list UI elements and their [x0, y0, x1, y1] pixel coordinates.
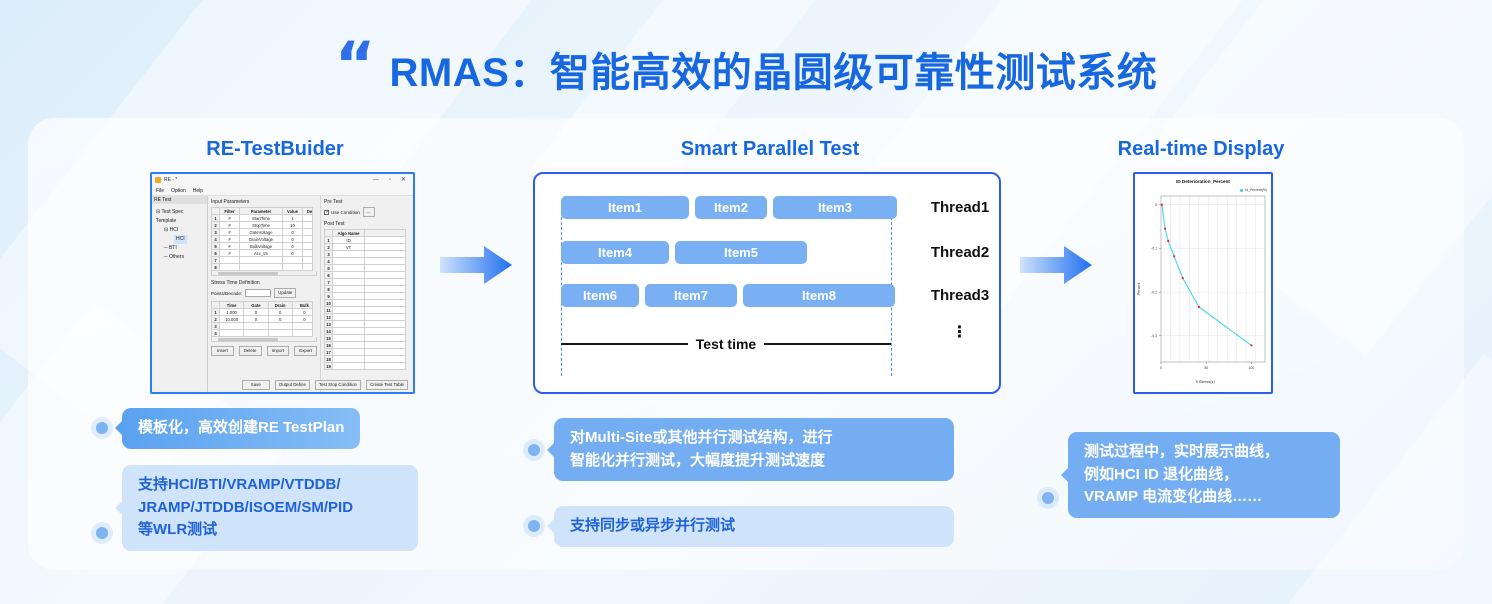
right-arrow-icon — [440, 246, 512, 284]
tree-node-bti[interactable]: ─ BTI — [154, 244, 205, 253]
table-row: 11 — [325, 307, 410, 314]
thread-label-1: Thread1 — [915, 199, 1005, 216]
close-icon[interactable]: ✕ — [401, 177, 406, 183]
post-test-table[interactable]: Algo Name 1ID 2VT 3 4 5 6 — [324, 229, 410, 370]
tree-node-test-spec-template[interactable]: ⊟ Test Spec Template — [154, 208, 205, 226]
test-time-label: Test time — [696, 336, 756, 352]
maximize-icon[interactable]: ▫ — [389, 177, 391, 183]
callout-left-2: 支持HCI/BTI/VRAMP/VTDDB/ JRAMP/JTDDB/ISOEM… — [96, 465, 418, 551]
table-header-row: Filter Parameter Value De — [212, 208, 317, 215]
test-spec-tree-panel: RE Test ⊟ Test Spec Template ⊟ HCI HCI ─… — [152, 196, 208, 392]
table-row: 16 — [325, 342, 410, 349]
table-row: 1#StartTime1 — [212, 215, 317, 222]
table-row: 8 — [325, 286, 410, 293]
item-block[interactable]: Item1 — [561, 196, 689, 219]
item-block[interactable]: Item3 — [773, 196, 897, 219]
smart-parallel-test-panel: Item1 Item2 Item3 Thread1 Item4 Item5 Th… — [533, 172, 1001, 394]
section-title-re-testbuilder: RE-TestBuider — [154, 138, 396, 161]
callout-right-1: 测试过程中，实时展示曲线， 例如HCI ID 退化曲线， VRAMP 电流变化曲… — [1042, 432, 1340, 518]
table-row: 10 — [325, 300, 410, 307]
table-header-row: Time Gate Drain Bulk — [212, 302, 317, 309]
table-row: 5#BulkVoltage0 — [212, 243, 317, 250]
callout-middle-1: 对Multi-Site或其他并行测试结构，进行 智能化并行测试，大幅度提升测试速… — [528, 418, 954, 481]
tree-panel-header: RE Test — [152, 196, 207, 204]
table-row: 210.000000 — [212, 316, 317, 323]
points-per-decade-label: Points/Decade: — [211, 291, 242, 296]
page-header: “ RMAS：智能高效的晶圆级可靠性测试系统 — [0, 38, 1492, 100]
table-row: 11.000000 — [212, 309, 317, 316]
table-row: 1ID — [325, 237, 410, 244]
page-title: RMAS：智能高效的晶圆级可靠性测试系统 — [389, 40, 1157, 98]
create-test-table-button[interactable]: Create Test Table — [366, 380, 408, 390]
table-row: 13 — [325, 321, 410, 328]
item-block[interactable]: Item7 — [645, 284, 737, 307]
callout-text: 测试过程中，实时展示曲线， 例如HCI ID 退化曲线， VRAMP 电流变化曲… — [1068, 432, 1340, 518]
bullet-dot-icon — [96, 422, 108, 434]
table-row: 2VT — [325, 244, 410, 251]
use-condition-checkbox[interactable]: Use Condition — [324, 210, 360, 215]
real-time-chart-window: ID Deterioration_Percent Id_Percent(%) 0… — [1133, 172, 1273, 394]
menu-bar: File Option Help — [152, 186, 413, 196]
output-define-button[interactable]: Output Define — [275, 380, 310, 390]
table-row: 3 — [212, 323, 317, 330]
test-time-axis: Test time — [561, 336, 891, 352]
vertical-scrollbar[interactable] — [405, 229, 410, 370]
thread-row-2: Item4 Item5 — [561, 241, 807, 264]
chart-y-axis-label: Percent — [1137, 283, 1141, 295]
thread-row-3: Item6 Item7 Item8 — [561, 284, 895, 307]
svg-text:0: 0 — [1160, 366, 1162, 370]
table-row: 6 — [325, 272, 410, 279]
quote-mark-icon: “ — [335, 45, 372, 85]
callout-text: 支持HCI/BTI/VRAMP/VTDDB/ JRAMP/JTDDB/ISOEM… — [122, 465, 418, 551]
item-block[interactable]: Item6 — [561, 284, 639, 307]
app-icon — [155, 177, 161, 183]
save-button[interactable]: Save — [242, 380, 270, 390]
thread-row-1: Item1 Item2 Item3 — [561, 196, 897, 219]
callout-text: 支持同步或异步并行测试 — [554, 506, 954, 547]
vertical-scrollbar[interactable] — [312, 301, 317, 337]
table-row: 9 — [325, 293, 410, 300]
bullet-dot-icon — [1042, 492, 1054, 504]
svg-text:0: 0 — [1155, 203, 1157, 207]
table-row: 18 — [325, 356, 410, 363]
window-titlebar: RE - * — ▫ ✕ — [152, 174, 413, 186]
bullet-dot-icon — [528, 444, 540, 456]
horizontal-scrollbar[interactable] — [211, 271, 317, 276]
table-row: 3 — [325, 251, 410, 258]
thread-label-2: Thread2 — [915, 244, 1005, 261]
bullet-dot-icon — [96, 527, 108, 539]
svg-text:100: 100 — [1249, 366, 1255, 370]
tree-node-others[interactable]: ─ Others — [154, 253, 205, 262]
tree-node-hci-child[interactable]: HCI — [154, 235, 205, 244]
table-row: 5 — [325, 265, 410, 272]
post-test-label: Post Test — [324, 221, 410, 227]
chart-x-axis-label: TriStress(s) — [1135, 380, 1273, 384]
callout-text: 对Multi-Site或其他并行测试结构，进行 智能化并行测试，大幅度提升测试速… — [554, 418, 954, 481]
test-stop-condition-button[interactable]: Test Stop Condition — [315, 380, 361, 390]
import-button[interactable]: Import — [267, 346, 290, 356]
update-button[interactable]: Update — [274, 288, 296, 298]
insert-button[interactable]: Insert — [211, 346, 234, 356]
section-title-real-time-display: Real-time Display — [1070, 138, 1332, 161]
table-row: 7 — [325, 279, 410, 286]
tree-node-hci[interactable]: ⊟ HCI — [154, 226, 205, 235]
chart-title: ID Deterioration_Percent — [1135, 179, 1271, 184]
table-row: 14 — [325, 328, 410, 335]
points-per-decade-input[interactable] — [245, 289, 271, 297]
window-footer-buttons: Save Output Define Test Stop Condition C… — [214, 380, 411, 390]
section-title-smart-parallel-test: Smart Parallel Test — [580, 138, 960, 161]
more-threads-indicator: ⋮ — [915, 322, 1005, 342]
pre-test-label: Pre Test — [324, 199, 410, 205]
svg-text:-0.3: -0.3 — [1151, 334, 1157, 338]
bullet-dot-icon — [528, 520, 540, 532]
test-spec-tree: ⊟ Test Spec Template ⊟ HCI HCI ─ BTI ─ O… — [152, 204, 207, 266]
table-row: 7 — [212, 257, 317, 264]
table-row: 4 — [212, 330, 317, 337]
menu-item-help[interactable]: Help — [193, 188, 203, 194]
svg-text:-0.2: -0.2 — [1151, 290, 1157, 294]
chart-plot-area: 0-0.1-0.2-0.3050100 Percent TriStress(s) — [1135, 190, 1273, 388]
thread-label-3: Thread3 — [915, 287, 1005, 304]
table-row: 4 — [325, 258, 410, 265]
minimize-icon[interactable]: — — [373, 177, 379, 183]
delete-button[interactable]: Delete — [239, 346, 262, 356]
svg-text:-0.1: -0.1 — [1151, 247, 1157, 251]
stress-time-table[interactable]: Time Gate Drain Bulk 11.000000 210.00000… — [211, 301, 317, 337]
item-block[interactable]: Item8 — [743, 284, 895, 307]
table-row: 19 — [325, 363, 410, 370]
callout-middle-2: 支持同步或异步并行测试 — [528, 506, 954, 547]
item-block[interactable]: Item4 — [561, 241, 669, 264]
table-row: 8 — [212, 264, 317, 271]
input-parameters-label: Input Parameters — [211, 199, 317, 205]
table-row: 12 — [325, 314, 410, 321]
table-header-row: Algo Name — [325, 230, 410, 237]
svg-text:50: 50 — [1204, 366, 1208, 370]
horizontal-scrollbar[interactable] — [211, 337, 317, 342]
table-row: 17 — [325, 349, 410, 356]
re-test-application-window: RE - * — ▫ ✕ File Option Help RE Test ⊟ … — [150, 172, 415, 394]
menu-item-option[interactable]: Option — [171, 188, 186, 194]
table-row: 3#GateVoltage0 — [212, 229, 317, 236]
window-title: RE - * — [164, 177, 177, 183]
callout-left-1: 模板化，高效创建RE TestPlan — [96, 408, 360, 449]
table-row: 6#Acc_tm0 — [212, 250, 317, 257]
vertical-scrollbar[interactable] — [312, 207, 317, 271]
table-row: 15 — [325, 335, 410, 342]
menu-item-file[interactable]: File — [156, 188, 164, 194]
pre-test-browse-button[interactable]: ... — [363, 207, 375, 217]
stress-time-button-row: Insert Delete Import Export — [211, 346, 317, 356]
right-arrow-icon — [1020, 246, 1092, 284]
input-parameters-table[interactable]: Filter Parameter Value De 1#StartTime1 2… — [211, 207, 317, 271]
item-block[interactable]: Item2 — [695, 196, 767, 219]
stress-time-label: Stress Time Definition — [211, 280, 317, 286]
table-row: 2#StopTime10 — [212, 222, 317, 229]
export-button[interactable]: Export — [294, 346, 317, 356]
table-row: 4#DrainVoltage0 — [212, 236, 317, 243]
callout-text: 模板化，高效创建RE TestPlan — [122, 408, 360, 449]
item-block[interactable]: Item5 — [675, 241, 807, 264]
